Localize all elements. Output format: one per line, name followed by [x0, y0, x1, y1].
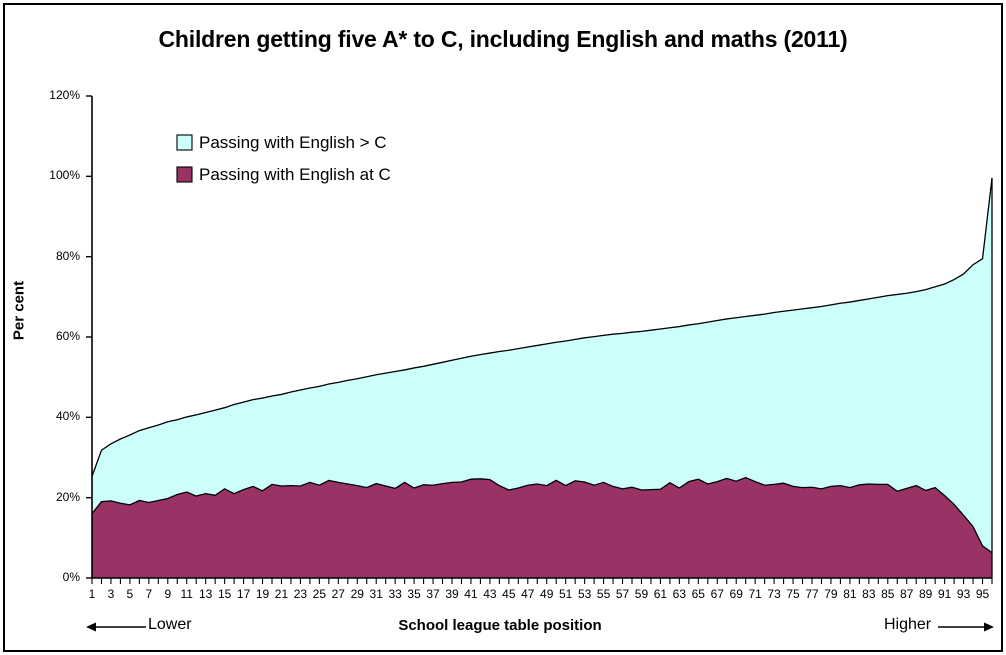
area-series-passing-at-c [92, 478, 992, 578]
x-axis-tick-label: 81 [840, 587, 860, 601]
legend-label-passing-at-c: Passing with English at C [199, 165, 391, 185]
x-axis-tick-label: 9 [158, 587, 178, 601]
x-axis-tick-label: 87 [897, 587, 917, 601]
x-axis-tick-label: 11 [177, 587, 197, 601]
x-axis-tick-label: 1 [82, 587, 102, 601]
y-axis-tick-label: 100% [26, 168, 80, 182]
y-axis-tick-label: 120% [26, 88, 80, 102]
x-axis-tick-label: 39 [442, 587, 462, 601]
x-axis-tick-label: 69 [726, 587, 746, 601]
x-axis-tick-label: 25 [309, 587, 329, 601]
x-axis-tick-label: 71 [745, 587, 765, 601]
x-axis-tick-label: 13 [196, 587, 216, 601]
x-axis-tick-label: 47 [518, 587, 538, 601]
area-chart [0, 0, 1006, 655]
x-axis-tick-label: 21 [271, 587, 291, 601]
x-axis-title: School league table position [300, 617, 700, 634]
x-axis-tick-label: 53 [575, 587, 595, 601]
x-axis-tick-label: 95 [973, 587, 993, 601]
lower-arrow-head-icon [86, 623, 96, 632]
x-axis-tick-label: 37 [423, 587, 443, 601]
legend-label-passing-above-c: Passing with English > C [199, 133, 387, 153]
x-axis-tick-label: 3 [101, 587, 121, 601]
x-axis-tick-label: 43 [480, 587, 500, 601]
x-axis-tick-label: 57 [613, 587, 633, 601]
x-axis-tick-label: 29 [347, 587, 367, 601]
x-axis-tick-label: 65 [688, 587, 708, 601]
x-axis-lower-label: Lower [148, 616, 192, 634]
x-axis-tick-label: 75 [783, 587, 803, 601]
x-axis-tick-label: 17 [234, 587, 254, 601]
x-axis-tick-label: 27 [328, 587, 348, 601]
legend-swatch [177, 135, 192, 150]
y-axis-tick-label: 80% [26, 249, 80, 263]
x-axis-tick-label: 63 [669, 587, 689, 601]
x-axis-tick-label: 35 [404, 587, 424, 601]
x-axis-tick-label: 49 [537, 587, 557, 601]
x-axis-tick-label: 31 [366, 587, 386, 601]
y-axis-title: Per cent [11, 261, 28, 361]
x-axis-tick-label: 59 [631, 587, 651, 601]
x-axis-tick-label: 85 [878, 587, 898, 601]
x-axis-tick-label: 61 [650, 587, 670, 601]
x-axis-tick-label: 7 [139, 587, 159, 601]
x-axis-tick-label: 41 [461, 587, 481, 601]
legend-swatch [177, 167, 192, 182]
x-axis-tick-label: 89 [916, 587, 936, 601]
x-axis-tick-label: 19 [253, 587, 273, 601]
x-axis-tick-label: 73 [764, 587, 784, 601]
x-axis-tick-label: 83 [859, 587, 879, 601]
x-axis-tick-label: 45 [499, 587, 519, 601]
x-axis-tick-label: 23 [290, 587, 310, 601]
higher-arrow-head-icon [984, 623, 994, 632]
y-axis-tick-label: 60% [26, 329, 80, 343]
x-axis-tick-label: 93 [954, 587, 974, 601]
x-axis-higher-label: Higher [884, 616, 931, 634]
x-axis-tick-label: 91 [935, 587, 955, 601]
x-axis-tick-label: 51 [556, 587, 576, 601]
chart-page: Children getting five A* to C, including… [0, 0, 1006, 655]
x-axis-tick-label: 67 [707, 587, 727, 601]
y-axis-tick-label: 20% [26, 490, 80, 504]
x-axis-tick-label: 15 [215, 587, 235, 601]
y-axis-tick-label: 0% [26, 570, 80, 584]
x-axis-tick-label: 55 [594, 587, 614, 601]
x-axis-tick-label: 5 [120, 587, 140, 601]
y-axis-tick-label: 40% [26, 409, 80, 423]
x-axis-tick-label: 33 [385, 587, 405, 601]
x-axis-tick-label: 79 [821, 587, 841, 601]
x-axis-tick-label: 77 [802, 587, 822, 601]
